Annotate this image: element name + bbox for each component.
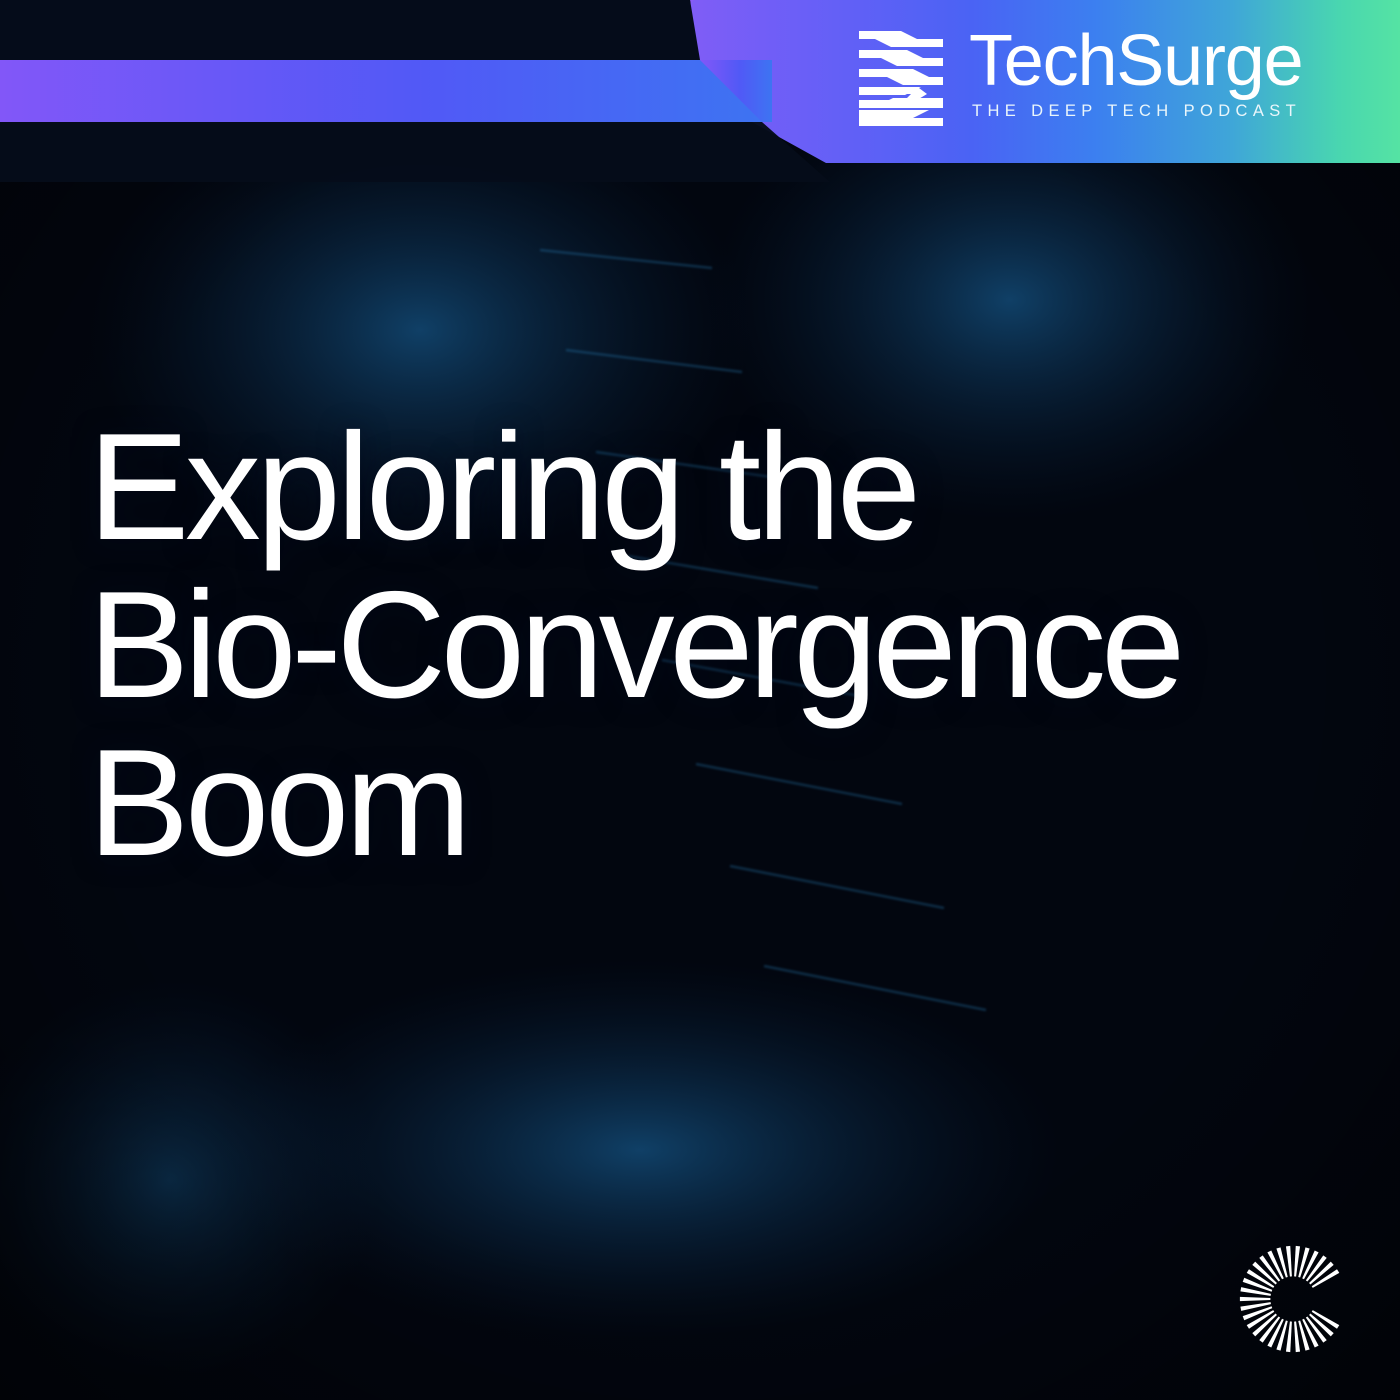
sunburst-ray [1276, 1320, 1287, 1350]
podcast-cover-art: 1011010010110100101101001011010010110100… [0, 0, 1400, 1400]
episode-title-line-2: Bio-Convergence [88, 566, 1338, 724]
techsurge-surge-bars-icon [855, 28, 947, 136]
sunburst-ray [1294, 1246, 1300, 1277]
sunburst-ray [1298, 1247, 1309, 1277]
episode-title-line-1: Exploring the [88, 408, 1338, 566]
brand-text-block: TechSurge THE DEEP TECH PODCAST [969, 28, 1302, 121]
episode-title: Exploring the Bio-Convergence Boom [88, 408, 1338, 882]
sunburst-ray [1294, 1321, 1300, 1352]
sunburst-ray [1298, 1320, 1309, 1350]
sunburst-ray [1276, 1247, 1287, 1277]
brand-wordmark: TechSurge [969, 28, 1302, 96]
sunburst-ray [1240, 1297, 1270, 1301]
brand-lockup[interactable]: TechSurge THE DEEP TECH PODCAST [855, 28, 1302, 136]
episode-title-line-3: Boom [88, 724, 1338, 882]
brand-tagline: THE DEEP TECH PODCAST [972, 102, 1302, 121]
sunburst-ray [1286, 1321, 1292, 1352]
sunburst-ray [1286, 1246, 1292, 1277]
radial-sunburst-icon [1234, 1240, 1352, 1358]
